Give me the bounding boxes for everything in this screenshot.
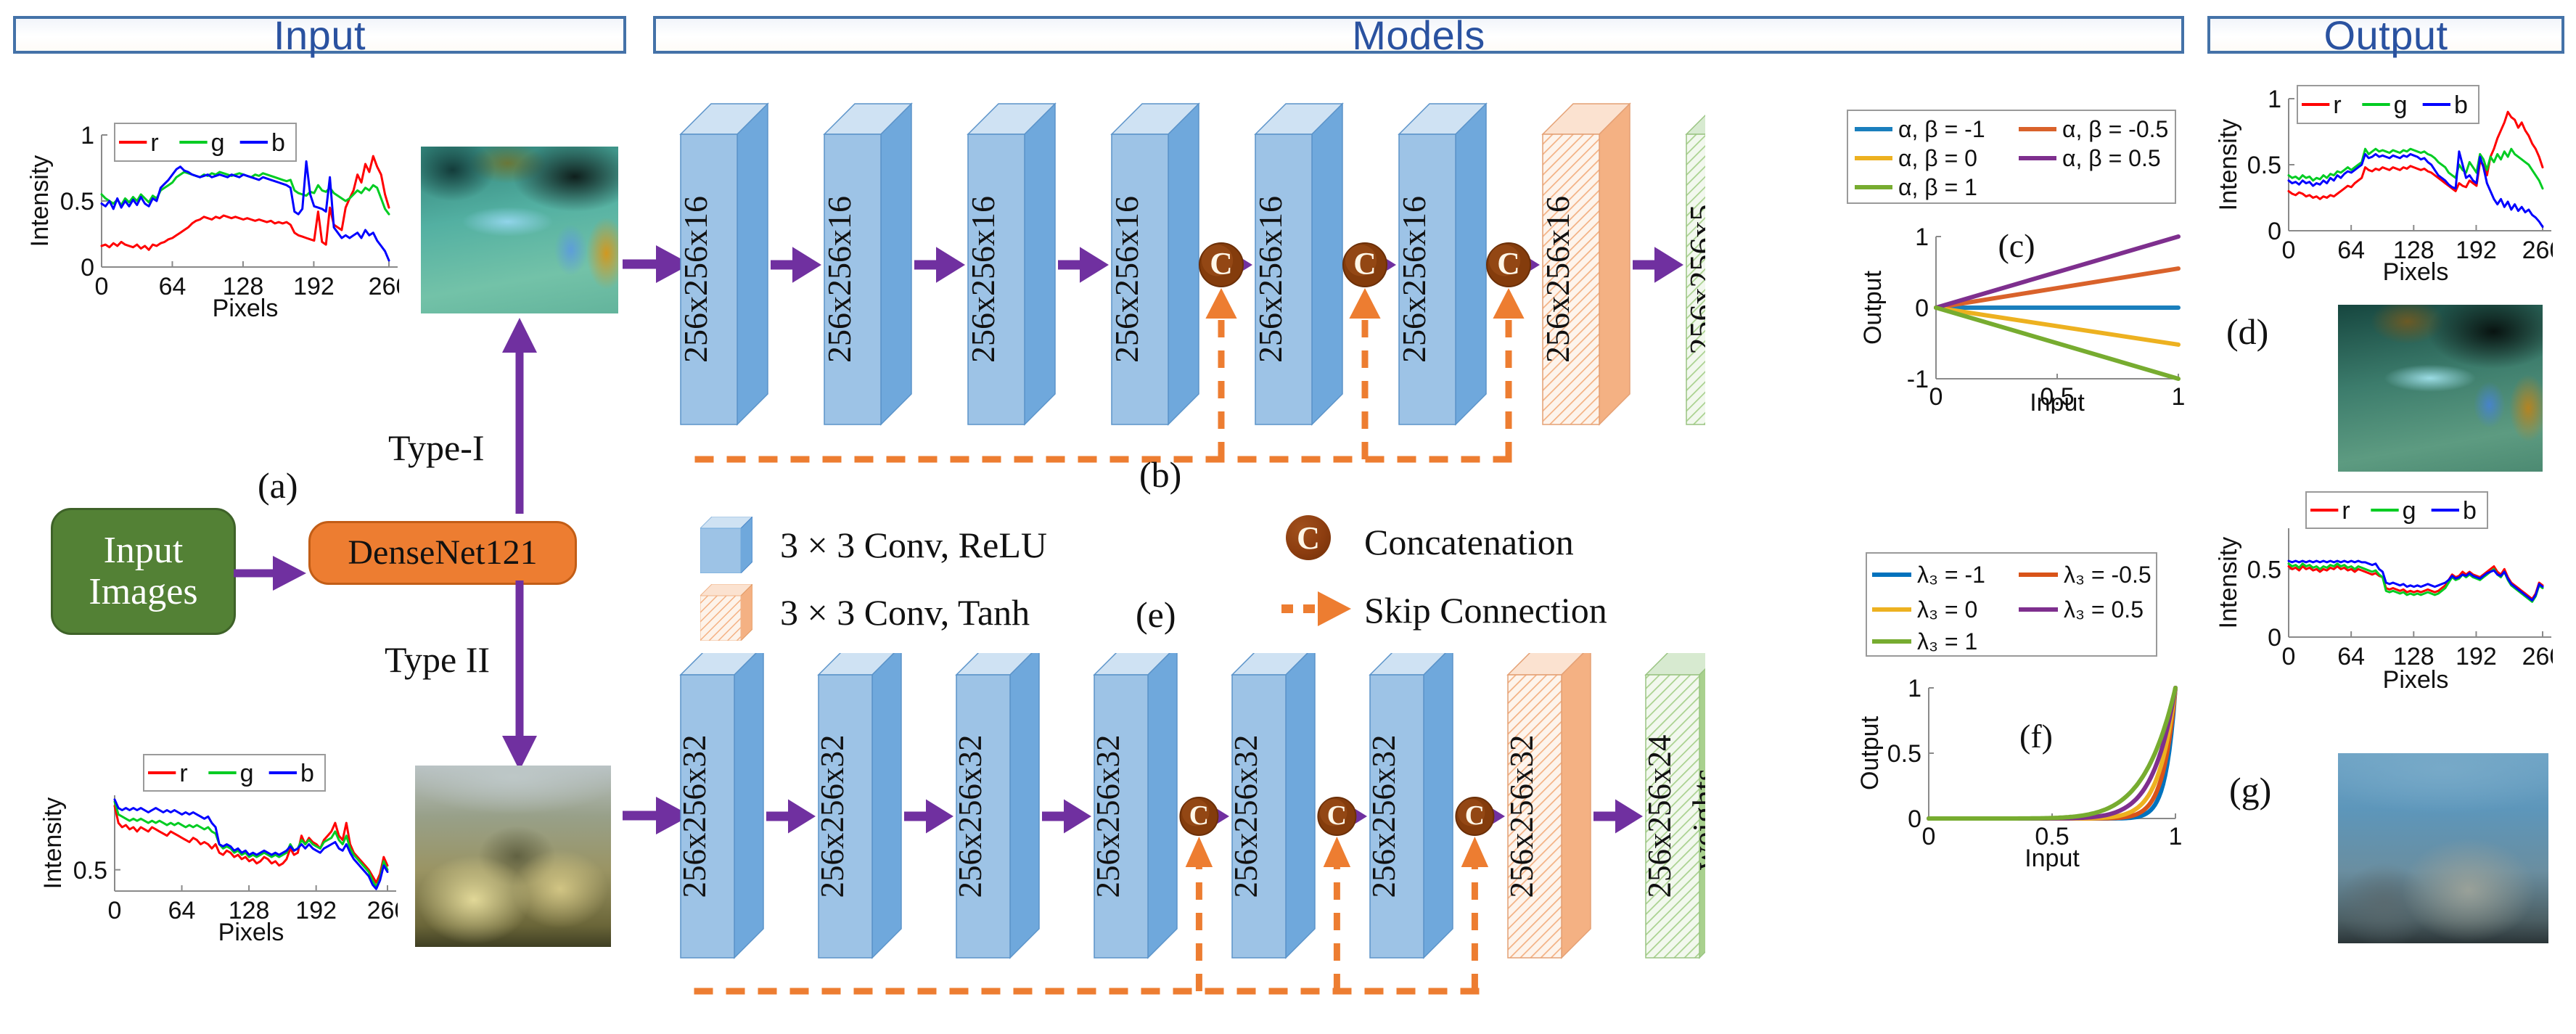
svg-text:Output: Output	[1856, 715, 1884, 790]
svg-text:260: 260	[2522, 643, 2553, 670]
svg-text:α, β = 1: α, β = 1	[1898, 174, 1977, 200]
svg-text:C: C	[1465, 800, 1485, 831]
svg-text:260: 260	[369, 273, 399, 300]
svg-text:α, β = -0.5: α, β = -0.5	[2062, 116, 2168, 142]
svg-text:C: C	[1497, 247, 1519, 282]
svg-text:260: 260	[367, 897, 398, 924]
output-image-type2	[2338, 753, 2548, 943]
conv-block-label: 256x256x32	[952, 735, 988, 898]
legend-concatenation-icon: C	[1286, 515, 1331, 560]
flow-arrow	[1593, 799, 1643, 833]
svg-text:1: 1	[1915, 223, 1929, 251]
conv-block-label: 256x256x16	[821, 196, 858, 363]
flow-arrow	[1058, 247, 1109, 283]
chart-input-type2-rgb: 0641281922600.5PixelsIntensityrgb	[35, 747, 398, 943]
svg-text:0: 0	[95, 273, 109, 300]
svg-text:Intensity: Intensity	[2215, 537, 2242, 629]
svg-text:r: r	[150, 129, 158, 157]
svg-text:0: 0	[108, 897, 122, 924]
concat-flow-arrow: C	[1456, 797, 1505, 991]
panel-label-g: (g)	[2229, 769, 2271, 811]
svg-text:260: 260	[2522, 237, 2553, 264]
conv-block: 256x256x5weights	[1683, 104, 1705, 424]
svg-text:α, β = 0: α, β = 0	[1898, 145, 1977, 171]
conv-block: 256x256x32	[952, 653, 1039, 958]
conv-block-label: 256x256x32	[1090, 735, 1126, 898]
svg-text:λ₃ = 1: λ₃ = 1	[1917, 628, 1977, 655]
svg-text:192: 192	[2456, 643, 2497, 670]
concatenation-node: C	[1180, 797, 1218, 835]
svg-text:64: 64	[2337, 237, 2365, 264]
chart-lambda3-response: λ₃ = -1λ₃ = -0.5λ₃ = 0λ₃ = 0.5λ₃ = 110.5…	[1843, 551, 2191, 871]
svg-text:C: C	[1353, 247, 1376, 282]
svg-text:g: g	[2394, 91, 2408, 119]
svg-text:Input: Input	[2030, 389, 2085, 414]
svg-text:-1: -1	[1907, 366, 1929, 393]
section-title-input: Input	[274, 12, 366, 59]
flow-arrow	[766, 799, 816, 833]
svg-text:0.5: 0.5	[1887, 740, 1921, 768]
concatenation-node: C	[1343, 243, 1387, 287]
legend-label-skip-connection: Skip Connection	[1364, 589, 1607, 631]
conv-block-label: 256x256x5	[1683, 205, 1705, 355]
output-image-type1	[2338, 305, 2543, 472]
concat-flow-arrow: C	[1318, 797, 1367, 991]
conv-block-label: 256x256x24	[1641, 735, 1678, 898]
svg-text:Intensity: Intensity	[26, 155, 54, 247]
svg-text:g: g	[211, 129, 225, 157]
svg-text:0: 0	[1915, 295, 1929, 322]
conv-block-label: 256x256x32	[1366, 735, 1402, 898]
svg-text:0: 0	[2282, 643, 2296, 670]
svg-text:b: b	[2463, 497, 2477, 525]
svg-text:1: 1	[2268, 86, 2281, 113]
conv-block-label: 256x256x16	[1252, 196, 1289, 363]
svg-text:C: C	[1327, 800, 1347, 831]
section-title-output: Output	[2323, 12, 2448, 59]
svg-text:0: 0	[2282, 237, 2296, 264]
svg-text:b: b	[300, 760, 314, 787]
svg-text:0.5: 0.5	[2247, 152, 2281, 179]
svg-text:0.5: 0.5	[73, 857, 107, 885]
svg-text:λ₃ = 0: λ₃ = 0	[1917, 596, 1977, 623]
svg-text:Pixels: Pixels	[2383, 258, 2449, 283]
conv-block: 256x256x32	[1090, 653, 1177, 958]
model_top-diagram: 256x256x16256x256x16256x256x16256x256x16…	[675, 98, 1705, 504]
svg-text:192: 192	[295, 897, 337, 924]
conv-block: 256x256x16	[1539, 104, 1630, 424]
svg-text:g: g	[2403, 497, 2416, 525]
legend-label-conv-relu: 3 × 3 Conv, ReLU	[780, 524, 1047, 566]
flow-arrow	[1042, 799, 1091, 833]
svg-text:0: 0	[2268, 218, 2281, 245]
svg-text:r: r	[2333, 91, 2341, 119]
flow-arrow	[1633, 247, 1683, 283]
backbone-label: DenseNet121	[348, 534, 537, 572]
conv-block-label: 256x256x16	[1539, 196, 1576, 363]
svg-text:0: 0	[81, 254, 94, 282]
branch-label-type1: Type-I	[388, 427, 485, 469]
arrow-type1-up	[435, 312, 610, 515]
svg-text:Input: Input	[2025, 845, 2080, 871]
concat-flow-arrow: C	[1180, 797, 1229, 991]
conv-block: 256x256x32	[814, 653, 901, 958]
svg-text:1: 1	[2172, 383, 2186, 411]
conv-block-label: 256x256x16	[677, 196, 714, 363]
conv-block-label: 256x256x16	[964, 196, 1001, 363]
model_bottom-diagram: 256x256x32256x256x32256x256x32256x256x32…	[675, 653, 1705, 1030]
flow-arrow	[771, 247, 821, 283]
conv-block: 256x256x32	[676, 653, 763, 958]
input-images-box[interactable]: Input Images	[51, 508, 236, 635]
svg-text:g: g	[240, 760, 254, 787]
concatenation-node: C	[1456, 797, 1493, 835]
svg-text:(c): (c)	[1998, 227, 2035, 264]
svg-text:Intensity: Intensity	[2215, 119, 2242, 211]
model-type2-network: 256x256x32256x256x32256x256x32256x256x32…	[675, 653, 1705, 1030]
svg-text:192: 192	[2456, 237, 2497, 264]
svg-text:64: 64	[168, 897, 196, 924]
svg-text:1: 1	[2169, 823, 2183, 850]
panel-label-d: (d)	[2226, 311, 2268, 353]
svg-text:b: b	[2454, 91, 2468, 119]
svg-text:0.5: 0.5	[60, 188, 94, 216]
svg-text:Intensity: Intensity	[39, 797, 67, 890]
panel-label-b: (b)	[1139, 454, 1181, 496]
svg-text:C: C	[1189, 800, 1209, 831]
svg-text:(f): (f)	[2019, 718, 2053, 755]
panel-label-e: (e)	[1136, 594, 1176, 636]
svg-text:λ₃ = 0.5: λ₃ = 0.5	[2064, 596, 2144, 623]
conv-block: 256x256x16	[1395, 104, 1486, 424]
svg-text:0: 0	[2268, 624, 2281, 652]
input-image-type1	[421, 147, 618, 313]
flow-arrow	[904, 799, 953, 833]
svg-text:0: 0	[1908, 805, 1921, 833]
conv-block-label: 256x256x32	[676, 735, 713, 898]
arrow-input-to-backbone	[234, 550, 313, 601]
legend-swatch-conv-relu	[700, 517, 752, 573]
input-images-label-line2: Images	[89, 572, 197, 612]
section-header-output: Output	[2207, 16, 2564, 54]
conv-block: 256x256x24weights	[1641, 653, 1705, 958]
conv-block: 256x256x16	[821, 104, 911, 424]
svg-text:C: C	[1210, 247, 1232, 282]
conv-block: 256x256x16	[1108, 104, 1199, 424]
svg-text:Output: Output	[1859, 270, 1887, 345]
svg-text:Pixels: Pixels	[213, 295, 279, 319]
svg-text:α, β = -1: α, β = -1	[1898, 116, 1985, 142]
svg-text:Pixels: Pixels	[218, 919, 284, 943]
svg-text:64: 64	[2337, 643, 2365, 670]
legend-label-conv-tanh: 3 × 3 Conv, Tanh	[780, 591, 1030, 633]
svg-text:64: 64	[159, 273, 186, 300]
concatenation-node: C	[1318, 797, 1355, 835]
conv-block-label: 256x256x32	[1228, 735, 1264, 898]
panel-label-a: (a)	[258, 464, 298, 506]
weights-label: weights	[1686, 768, 1705, 870]
concatenation-node: C	[1199, 243, 1243, 287]
model-type1-network: 256x256x16256x256x16256x256x16256x256x16…	[675, 98, 1705, 504]
svg-text:0.5: 0.5	[2247, 556, 2281, 583]
conv-block: 256x256x32	[1228, 653, 1315, 958]
svg-text:1: 1	[1908, 675, 1921, 702]
svg-text:0: 0	[1929, 383, 1943, 411]
conv-block: 256x256x16	[1252, 104, 1342, 424]
svg-text:192: 192	[293, 273, 335, 300]
branch-label-type2: Type II	[385, 639, 490, 681]
svg-text:b: b	[271, 129, 285, 157]
section-header-models: Models	[653, 16, 2184, 54]
chart-input-type1-rgb: 06412819226000.51PixelsIntensityrgb	[22, 109, 399, 319]
concat-flow-arrow: C	[1343, 243, 1396, 459]
conv-block-label: 256x256x32	[814, 735, 850, 898]
flow-arrow	[914, 247, 965, 283]
svg-text:r: r	[179, 760, 187, 787]
conv-block-label: 256x256x16	[1108, 196, 1145, 363]
conv-block: 256x256x16	[677, 104, 768, 424]
concat-flow-arrow: C	[1199, 243, 1252, 459]
svg-text:λ₃ = -0.5: λ₃ = -0.5	[2064, 562, 2152, 588]
chart-alpha-beta-response: α, β = -1α, β = -0.5α, β = 0α, β = 0.5α,…	[1843, 109, 2191, 414]
svg-text:λ₃ = -1: λ₃ = -1	[1917, 562, 1985, 588]
svg-text:1: 1	[81, 122, 94, 149]
input-image-type2	[415, 766, 611, 947]
conv-block: 256x256x32	[1366, 653, 1453, 958]
backbone-densenet121-box[interactable]: DenseNet121	[308, 521, 577, 585]
svg-text:0: 0	[1922, 823, 1936, 850]
input-images-label-line1: Input	[104, 530, 184, 571]
conv-block: 256x256x32	[1504, 653, 1591, 958]
concat-flow-arrow: C	[1487, 243, 1540, 459]
svg-text:r: r	[2342, 497, 2350, 525]
section-header-input: Input	[13, 16, 626, 54]
legend-label-concatenation: Concatenation	[1364, 521, 1574, 563]
concatenation-node: C	[1487, 243, 1530, 287]
legend-skip-connection-icon	[1279, 589, 1358, 628]
concat-glyph: C	[1297, 520, 1320, 557]
conv-block-label: 256x256x32	[1504, 735, 1540, 898]
chart-output-type2-rgb: 06412819226000.5PixelsIntensityrgb	[2212, 488, 2553, 691]
conv-block: 256x256x16	[964, 104, 1055, 424]
legend-swatch-conv-tanh	[700, 584, 752, 641]
svg-text:Pixels: Pixels	[2383, 666, 2449, 691]
section-title-models: Models	[1352, 12, 1485, 59]
svg-text:α, β = 0.5: α, β = 0.5	[2062, 145, 2161, 171]
chart-output-type1-rgb: 06412819226000.51PixelsIntensityrgb	[2212, 73, 2553, 283]
conv-block-label: 256x256x16	[1395, 196, 1432, 363]
